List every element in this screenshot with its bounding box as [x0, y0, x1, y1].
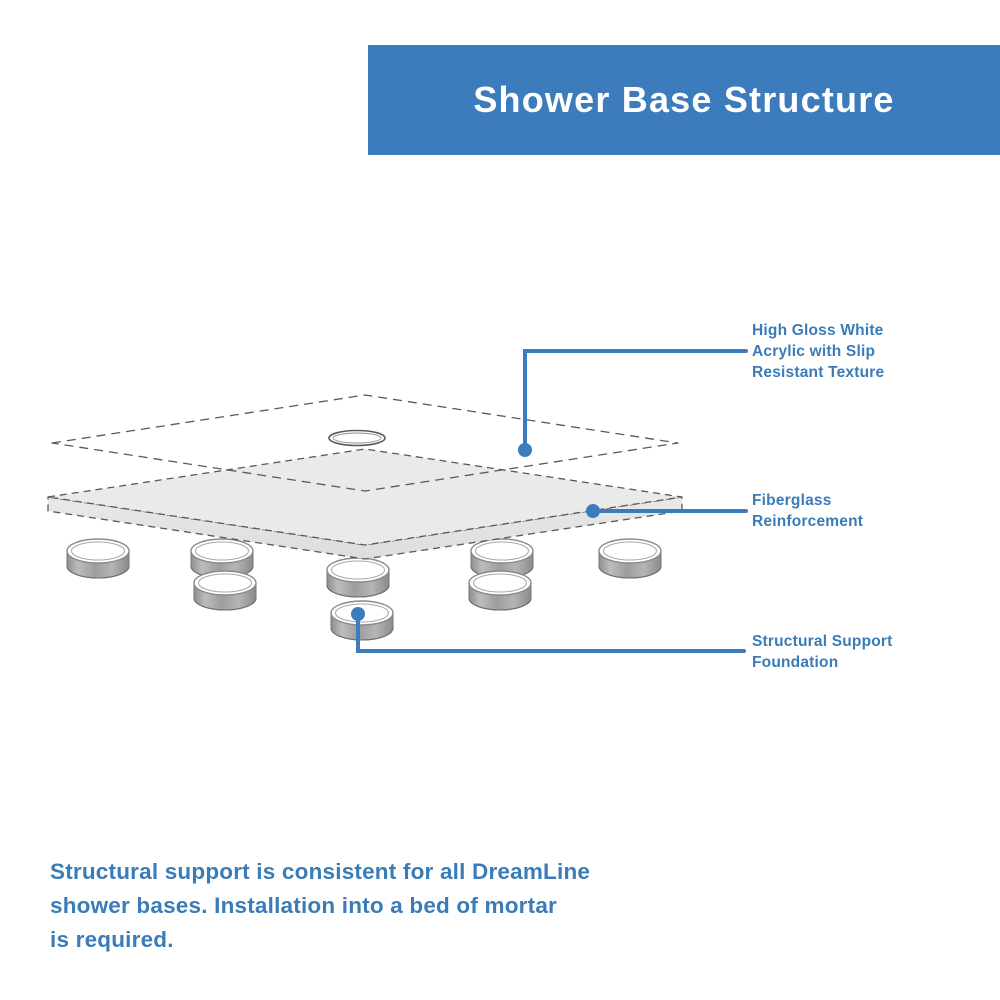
- leader-line-support: [351, 607, 744, 651]
- support-ring: [194, 571, 256, 610]
- callout-label-acrylic: High Gloss White Acrylic with Slip Resis…: [752, 320, 982, 383]
- leader-line-acrylic: [518, 351, 746, 457]
- support-ring: [599, 539, 661, 578]
- leader-dot-support: [351, 607, 365, 621]
- diagram-canvas: Shower Base Structure High Gloss White A…: [0, 0, 1000, 1000]
- footer-caption: Structural support is consistent for all…: [50, 855, 690, 957]
- support-ring: [469, 571, 531, 610]
- support-ring: [327, 558, 389, 597]
- fiberglass-slab: [48, 449, 682, 559]
- callout-label-structural-support: Structural Support Foundation: [752, 631, 982, 673]
- leader-dot-acrylic: [518, 443, 532, 457]
- leader-dot-fiberglass: [586, 504, 600, 518]
- callout-label-fiberglass: Fiberglass Reinforcement: [752, 490, 982, 532]
- support-ring: [67, 539, 129, 578]
- header-banner: Shower Base Structure: [368, 45, 1000, 155]
- drain-opening: [329, 431, 385, 446]
- page-title: Shower Base Structure: [473, 79, 894, 121]
- support-ring: [331, 601, 393, 640]
